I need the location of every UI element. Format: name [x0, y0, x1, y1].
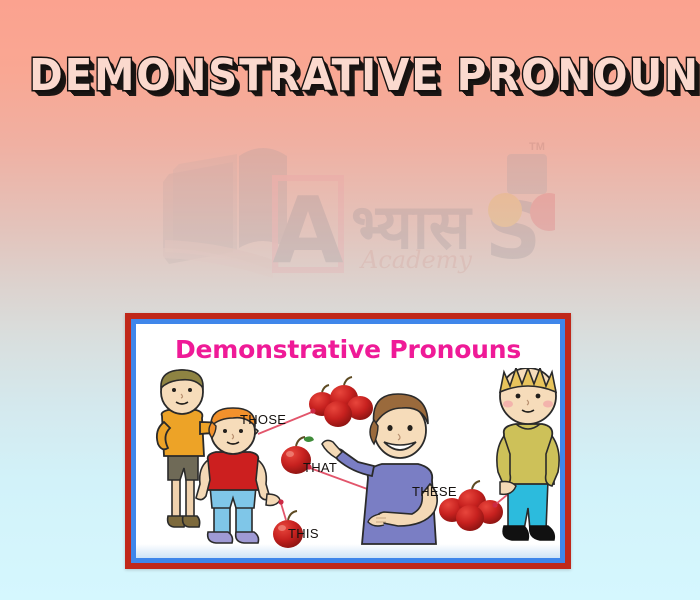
- label-this: THIS: [288, 526, 319, 541]
- character-boy-red-shirt: [196, 408, 280, 543]
- label-that: THAT: [303, 460, 337, 475]
- brand-script-text: Academy: [359, 246, 472, 274]
- brand-s-letter: S: [485, 187, 541, 277]
- open-book-icon: [163, 148, 287, 278]
- brand-watermark: A भ्यास Academy S TM: [155, 140, 555, 290]
- circle-shape-yellow: [488, 193, 522, 227]
- character-boy-blond-yellow-shirt: [497, 368, 559, 540]
- page-title-container: DEMONSTRATIVE PRONOUN: [0, 52, 700, 100]
- card-inner-frame: Demonstrative Pronouns: [131, 319, 565, 563]
- floor-shading: [136, 544, 560, 558]
- page-root: DEMONSTRATIVE PRONOUN A भ्यास Academy S: [0, 0, 700, 600]
- label-these: THESE: [412, 484, 457, 499]
- brand-letter-box: A: [272, 177, 343, 284]
- label-those: THOSE: [240, 412, 286, 427]
- illustration-card[interactable]: Demonstrative Pronouns: [125, 313, 571, 569]
- card-heading: Demonstrative Pronouns: [136, 336, 560, 364]
- page-title: DEMONSTRATIVE PRONOUN: [29, 52, 700, 100]
- arrow-this: [278, 499, 286, 520]
- circle-shape-pink: [530, 193, 555, 231]
- trademark-text: TM: [529, 141, 545, 153]
- scene-illustration: THOSE THAT THIS THESE: [136, 368, 560, 558]
- apple-cluster-those: [309, 377, 373, 427]
- brand-letter: A: [272, 177, 343, 284]
- square-shape: [507, 154, 547, 194]
- brand-devanagari-text: भ्यास: [351, 190, 473, 263]
- card-canvas: Demonstrative Pronouns: [136, 324, 560, 558]
